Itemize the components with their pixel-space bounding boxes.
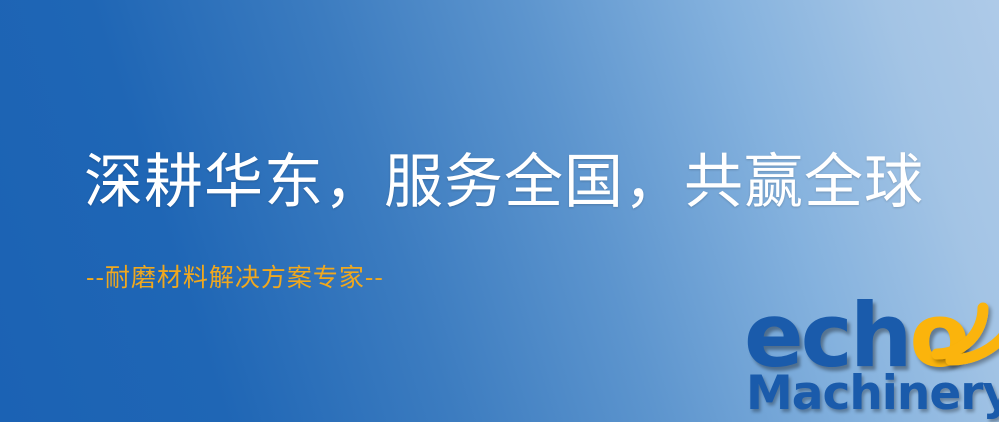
- page-subtitle: --耐磨材料解决方案专家--: [86, 265, 384, 290]
- company-logo[interactable]: echo Machinery®: [744, 292, 999, 422]
- hero-banner: 深耕华东，服务全国，共赢全球 --耐磨材料解决方案专家-- echo Machi…: [0, 0, 999, 422]
- page-title: 深耕华东，服务全国，共赢全球: [84, 152, 924, 211]
- signal-waves-icon: [929, 288, 999, 368]
- logo-tagline: Machinery®: [746, 370, 999, 417]
- logo-tagline-text: Machinery: [746, 366, 999, 421]
